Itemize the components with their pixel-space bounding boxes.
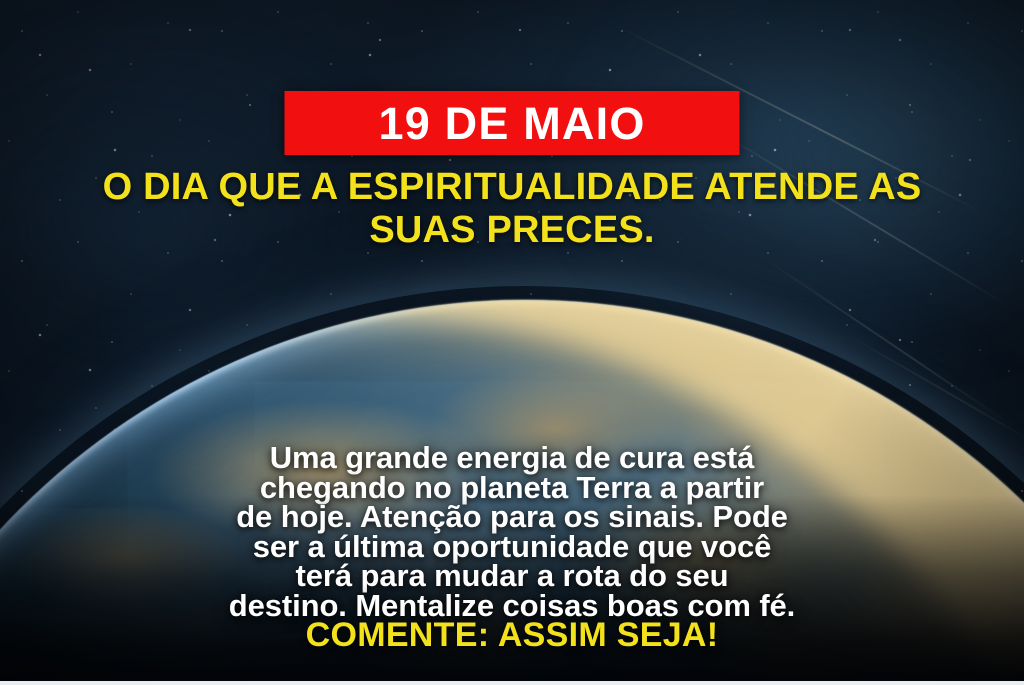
headline-line-1: O DIA QUE A ESPIRITUALIDADE xyxy=(103,166,695,208)
poster-content: 19 DE MAIO O DIA QUE A ESPIRITUALIDADE A… xyxy=(0,0,1024,685)
poster-canvas: 19 DE MAIO O DIA QUE A ESPIRITUALIDADE A… xyxy=(0,0,1024,685)
bottom-edge-strip xyxy=(0,681,1024,685)
body-line-5: terá para mudar a rota do seu xyxy=(62,561,962,591)
date-banner: 19 DE MAIO xyxy=(285,91,740,155)
headline: O DIA QUE A ESPIRITUALIDADE ATENDE AS SU… xyxy=(62,166,962,253)
body-line-4: ser a última oportunidade que você xyxy=(62,532,962,562)
body-copy: Uma grande energia de cura está chegando… xyxy=(62,443,962,620)
body-line-1: Uma grande energia de cura está xyxy=(62,443,962,473)
body-line-3: de hoje. Atenção para os sinais. Pode xyxy=(62,502,962,532)
date-banner-text: 19 DE MAIO xyxy=(378,101,645,146)
call-to-action-text: COMENTE: ASSIM SEJA! xyxy=(306,616,719,655)
body-line-2: chegando no planeta Terra a partir xyxy=(62,473,962,503)
